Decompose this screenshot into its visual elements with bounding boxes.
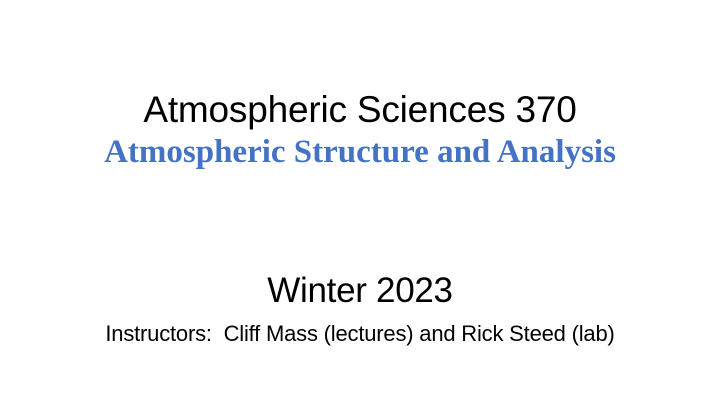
slide-date-block: Winter 2023 [36,270,684,312]
course-title: Atmospheric Sciences 370 [36,88,684,132]
title-slide: Atmospheric Sciences 370 Atmospheric Str… [0,0,720,405]
slide-title-block: Atmospheric Sciences 370 Atmospheric Str… [36,88,684,171]
term-label: Winter 2023 [36,270,684,312]
instructors-label: Instructors: Cliff Mass (lectures) and R… [36,320,684,348]
slide-instructors-block: Instructors: Cliff Mass (lectures) and R… [36,320,684,348]
subject-title: Atmospheric Structure and Analysis [36,132,684,171]
